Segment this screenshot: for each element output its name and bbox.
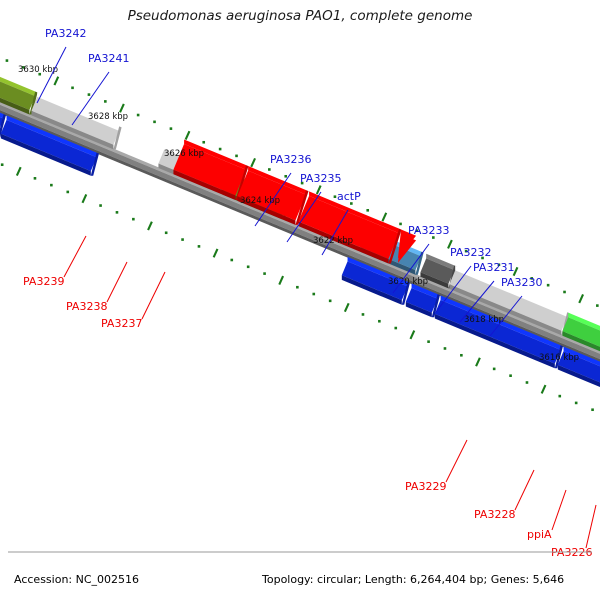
ruler-tick-minor — [137, 114, 140, 117]
gene-label-actp[interactable]: actP — [337, 190, 361, 203]
ruler-tick-minor — [66, 191, 69, 194]
leader-line-pa3239 — [64, 236, 86, 277]
gene-label-ppia[interactable]: ppiA — [527, 528, 552, 541]
ruler-tick-minor — [198, 245, 201, 248]
leader-line-pa3229 — [446, 440, 467, 482]
ruler-tick-minor — [230, 259, 233, 262]
ruler-tick-major — [54, 77, 58, 85]
gene-label-pa3229[interactable]: PA3229 — [405, 480, 446, 493]
ruler-tick-minor — [329, 300, 332, 303]
ruler-tick-minor — [526, 381, 529, 384]
ruler-tick-minor — [99, 204, 102, 207]
ruler-coordinate-label: 3626 kbp — [164, 149, 204, 159]
ruler-tick-minor — [202, 141, 205, 144]
ruler-tick-major — [410, 331, 414, 339]
ruler-tick-minor — [378, 320, 381, 323]
gene-label-pa3228[interactable]: PA3228 — [474, 508, 515, 521]
gene-label-pa3242[interactable]: PA3242 — [45, 27, 86, 40]
ruler-tick-major — [251, 158, 255, 166]
ruler-tick-minor — [1, 163, 4, 166]
gene-label-pa3230[interactable]: PA3230 — [501, 276, 542, 289]
leader-line-ppia — [552, 490, 566, 530]
ruler-tick-minor — [247, 265, 250, 268]
ruler-tick-minor — [334, 195, 337, 198]
ruler-tick-major — [279, 276, 283, 284]
ruler-tick-major — [345, 303, 349, 311]
ruler-tick-minor — [165, 231, 168, 234]
gene-label-pa3241[interactable]: PA3241 — [88, 52, 129, 65]
ruler-tick-major — [382, 213, 386, 221]
ruler-tick-major — [542, 385, 546, 393]
ruler-tick-minor — [509, 374, 512, 377]
ruler-tick-minor — [71, 87, 74, 90]
ruler-tick-minor — [181, 238, 184, 241]
ruler-tick-major — [82, 194, 86, 202]
gene-label-pa3233[interactable]: PA3233 — [408, 224, 449, 237]
ruler-tick-minor — [34, 177, 37, 180]
gene-label-pa3238[interactable]: PA3238 — [66, 300, 107, 313]
ruler-tick-minor — [88, 93, 91, 96]
gene-label-pa3236[interactable]: PA3236 — [270, 153, 311, 166]
gene-label-pa3231[interactable]: PA3231 — [473, 261, 514, 274]
ruler-coordinate-label: 3628 kbp — [88, 112, 128, 122]
genome-map-viewer: Pseudomonas aeruginosa PAO1, complete ge… — [0, 0, 600, 600]
leader-line-pa3228 — [515, 470, 534, 510]
ruler-tick-minor — [50, 184, 53, 187]
ruler-tick-minor — [460, 354, 463, 357]
ruler-coordinate-label: 3618 kbp — [464, 315, 504, 325]
ruler-tick-minor — [170, 127, 173, 130]
ruler-coordinate-label: 3622 kbp — [313, 236, 353, 246]
ruler-tick-minor — [575, 402, 578, 405]
accession-text: Accession: NC_002516 — [14, 573, 139, 586]
ruler-tick-minor — [547, 284, 550, 287]
genome-map-canvas: Pseudomonas aeruginosa PAO1, complete ge… — [0, 0, 600, 600]
ruler-coordinate-label: 3616 kbp — [539, 353, 579, 363]
leader-line-pa3238 — [107, 262, 127, 302]
ruler-tick-minor — [219, 148, 222, 151]
ruler-tick-minor — [6, 59, 9, 62]
ruler-tick-minor — [366, 209, 369, 212]
leader-line-pa3242 — [37, 47, 66, 103]
gene-label-pa3235[interactable]: PA3235 — [300, 172, 341, 185]
ruler-tick-minor — [296, 286, 299, 289]
ruler-tick-minor — [104, 100, 107, 103]
leader-line-pa3226 — [586, 505, 596, 548]
ruler-tick-minor — [563, 291, 566, 294]
ruler-tick-minor — [235, 155, 238, 158]
gene-label-pa3237[interactable]: PA3237 — [101, 317, 142, 330]
ruler-tick-minor — [399, 223, 402, 226]
gene-label-pa3239[interactable]: PA3239 — [23, 275, 64, 288]
ruler-tick-minor — [312, 293, 315, 296]
ruler-tick-minor — [591, 408, 594, 411]
ruler-tick-minor — [116, 211, 119, 214]
ruler-tick-minor — [444, 347, 447, 350]
gene-label-pa3232[interactable]: PA3232 — [450, 246, 491, 259]
ruler-tick-major — [17, 167, 21, 175]
ruler-tick-minor — [132, 218, 135, 221]
ruler-tick-major — [476, 358, 480, 366]
ruler-tick-major — [579, 294, 583, 302]
ruler-tick-major — [148, 222, 152, 230]
ruler-tick-minor — [394, 327, 397, 330]
ruler-tick-minor — [558, 395, 561, 398]
ruler-tick-major — [186, 131, 190, 139]
ruler-tick-minor — [493, 368, 496, 371]
ruler-coordinate-label: 3620 kbp — [388, 277, 428, 287]
ruler-tick-minor — [596, 304, 599, 307]
ruler-tick-major — [214, 249, 218, 257]
ruler-tick-minor — [427, 340, 430, 343]
page-title: Pseudomonas aeruginosa PAO1, complete ge… — [128, 8, 473, 24]
ruler-tick-minor — [153, 121, 156, 124]
ruler-tick-minor — [268, 168, 271, 171]
ruler-tick-minor — [284, 175, 287, 178]
ruler-tick-minor — [362, 313, 365, 316]
genome-stats-text: Topology: circular; Length: 6,264,404 bp… — [261, 573, 564, 586]
ruler-tick-minor — [263, 272, 266, 275]
leader-line-pa3237 — [142, 272, 165, 319]
